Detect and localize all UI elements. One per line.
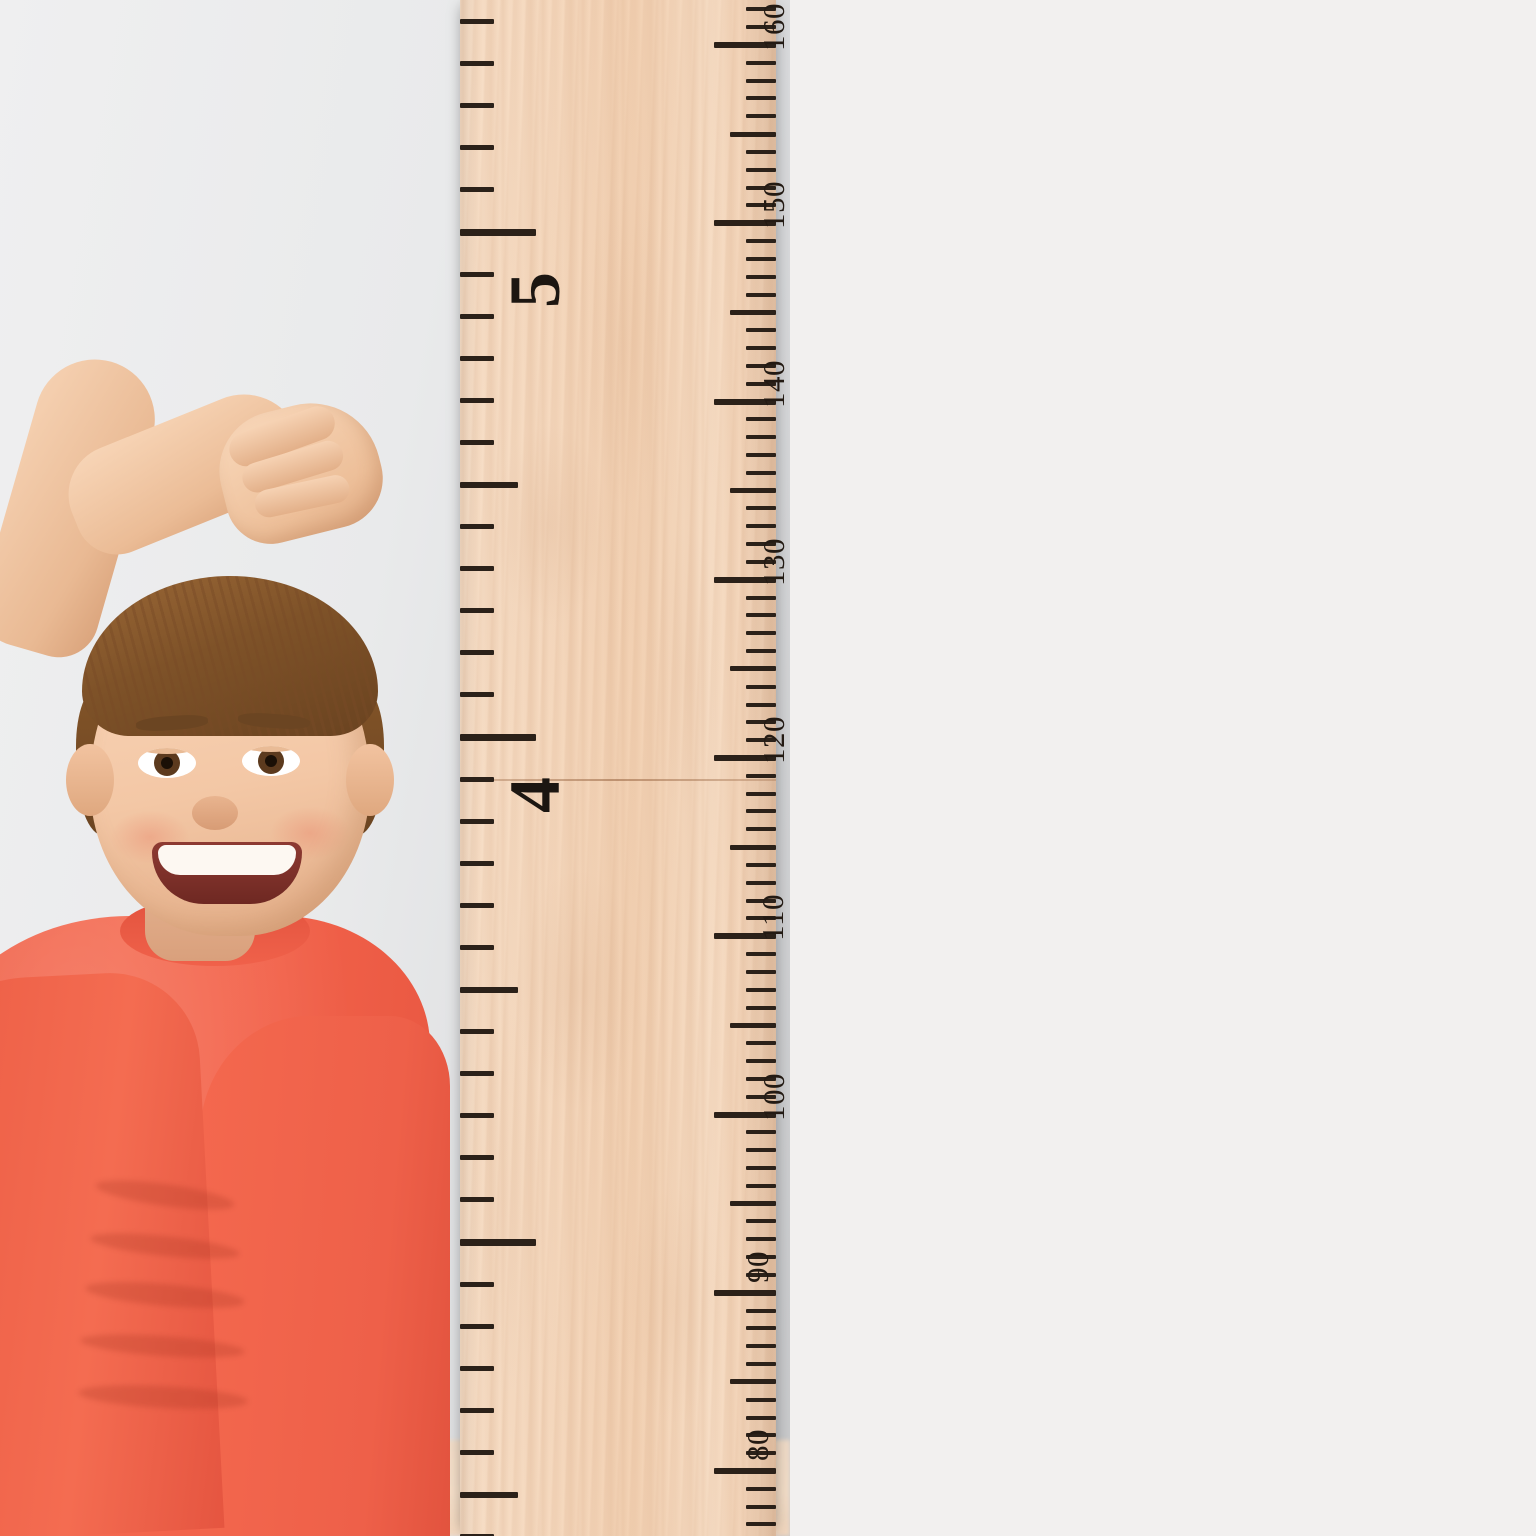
ruler-tick-cm [730,1201,776,1206]
ruler-tick-cm [746,952,776,956]
ruler-tick-cm [746,1184,776,1188]
ruler-label-cm: 90 [740,1251,776,1283]
ruler-tick-inch [460,145,494,150]
ruler-tick-cm [746,685,776,689]
ruler-label-cm: 130 [756,538,790,586]
ruler-tick-cm [746,79,776,83]
ruler-tick-cm [730,1379,776,1384]
ruler-tick-cm [746,1237,776,1241]
ruler-tick-cm [746,1505,776,1509]
ruler-tick-cm [746,257,776,261]
ruler-tick-inch [460,19,494,24]
ruler-tick-cm [746,649,776,653]
ruler-tick-cm [746,827,776,831]
ruler-label-foot: 4 [494,777,577,813]
ruler-tick-cm [746,1522,776,1526]
ruler-tick-cm [730,132,776,137]
smiling-mouth [152,842,302,904]
ruler-label-cm: 160 [756,3,790,51]
ruler-tick-cm [746,150,776,154]
ruler-tick-cm [746,1398,776,1402]
ruler-tick-cm [746,703,776,707]
ruler-tick-cm [746,809,776,813]
ruler-tick-cm [714,1290,776,1296]
ruler-tick-cm [746,613,776,617]
ruler-tick-cm [746,96,776,100]
ruler-label-cm: 80 [740,1429,776,1461]
ear-left [66,744,114,816]
eye-right [242,746,300,776]
ruler-tick-cm [746,239,776,243]
ruler-tick-cm [746,1006,776,1010]
ruler-tick-cm [730,1023,776,1028]
ruler-tick-inch [460,61,494,66]
ruler-tick-cm [714,1468,776,1474]
ruler-label-cm: 110 [755,894,790,941]
ruler-tick-cm [746,1344,776,1348]
ruler-tick-cm [746,1166,776,1170]
ruler-tick-cm [730,845,776,850]
ruler-label-foot: 5 [494,272,577,308]
ruler-tick-cm [746,275,776,279]
ruler-tick-cm [746,524,776,528]
ruler-tick-cm [746,631,776,635]
ruler-tick-cm [746,863,776,867]
ruler-tick-cm [746,1148,776,1152]
product-marketing-image: 1601501401301201101009080 54 [0,0,1536,1536]
ruler-tick-cm [746,1130,776,1134]
ruler-tick-inch [460,356,494,361]
ruler-label-cm: 150 [756,181,790,229]
ruler-tick-inch [460,187,494,192]
ruler-tick-cm [746,168,776,172]
ear-right [346,744,394,816]
ruler-tick-cm [730,310,776,315]
ruler-tick-cm [746,1416,776,1420]
nose [192,796,238,830]
ruler-tick-cm [746,970,776,974]
ruler-tick-inch [460,103,494,108]
eye-left [138,748,196,778]
child-photo-subject [0,436,490,1536]
ruler-tick-cm [730,666,776,671]
ruler-tick-cm [746,1309,776,1313]
ruler-label-cm: 120 [756,716,790,764]
ruler-tick-cm [746,453,776,457]
ruler-tick-cm [746,506,776,510]
ruler-tick-cm [746,774,776,778]
ruler-tick-inch [460,272,494,277]
ruler-label-cm: 140 [756,360,790,408]
ruler-tick-inch [460,314,494,319]
ruler-tick-inch [460,229,536,236]
ruler-tick-cm [746,114,776,118]
lifestyle-photo: 1601501401301201101009080 54 [0,0,790,1536]
ruler-tick-cm [730,488,776,493]
ruler-tick-cm [746,1487,776,1491]
ruler-tick-cm [746,471,776,475]
ruler-tick-cm [746,1326,776,1330]
ruler-tick-cm [746,328,776,332]
ruler-tick-cm [746,435,776,439]
ruler-tick-cm [746,417,776,421]
ruler-tick-inch [460,398,494,403]
ruler-tick-cm [746,61,776,65]
ruler-label-cm: 100 [756,1073,790,1121]
ruler-tick-cm [746,293,776,297]
marketing-copy-panel: HEADWATERS STUDIO A GREAT GIFT FOR ANY O… [790,0,1536,1536]
ruler-tick-cm [746,1219,776,1223]
ruler-tick-cm [746,988,776,992]
ruler-tick-cm [746,1059,776,1063]
ruler-tick-cm [746,596,776,600]
hair [82,576,378,736]
ruler-tick-cm [746,346,776,350]
ruler-tick-cm [746,792,776,796]
ruler-tick-cm [746,881,776,885]
ruler-tick-cm [746,1362,776,1366]
ruler-tick-cm [746,1041,776,1045]
shirt-torso [200,1016,450,1536]
